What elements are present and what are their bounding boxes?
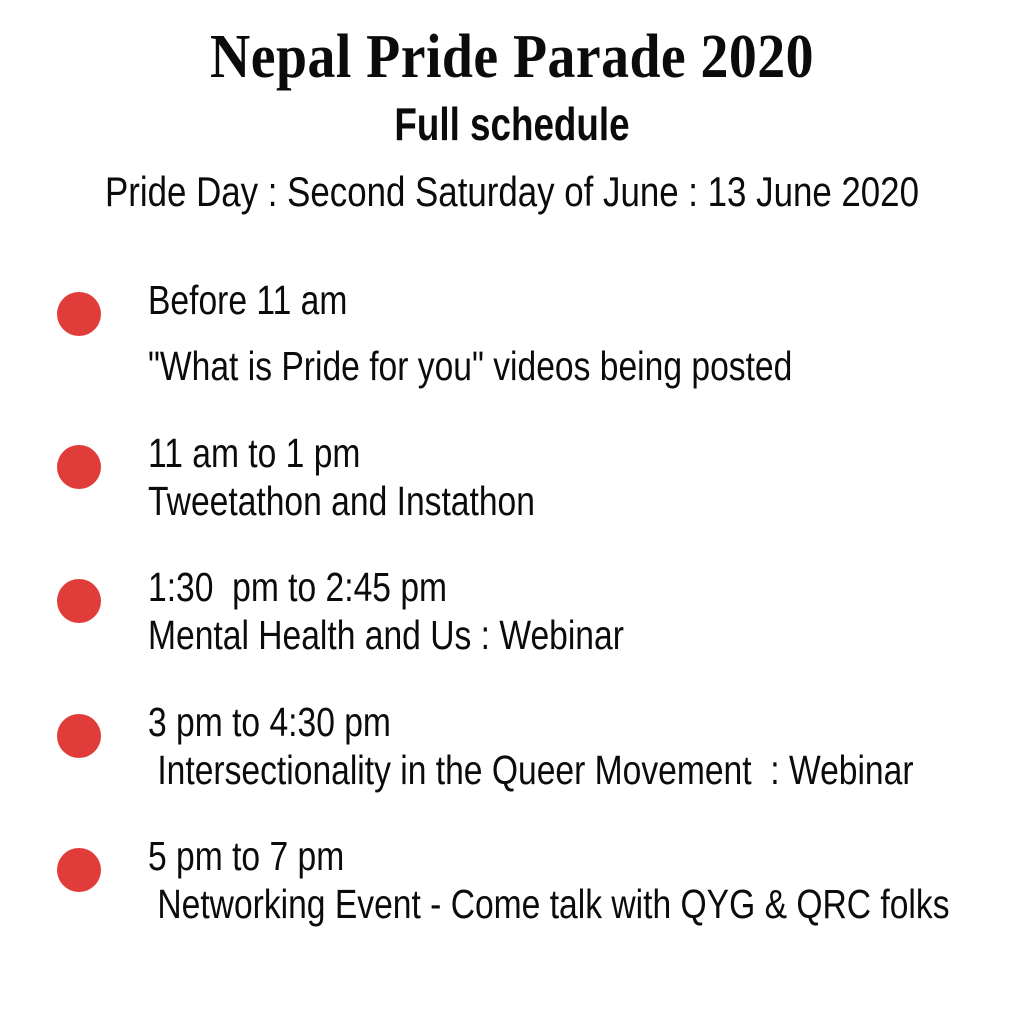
schedule-list: Before 11 am "What is Pride for you" vid… (0, 278, 1024, 959)
schedule-item-description: Intersectionality in the Queer Movement … (148, 748, 866, 792)
schedule-item: 11 am to 1 pm Tweetathon and Instathon (0, 431, 1024, 524)
schedule-item-description: Tweetathon and Instathon (148, 479, 866, 523)
schedule-item: Before 11 am "What is Pride for you" vid… (0, 278, 1024, 389)
schedule-item-description: Mental Health and Us : Webinar (148, 613, 866, 657)
schedule-item-description: "What is Pride for you" videos being pos… (148, 344, 866, 388)
schedule-item-time: 5 pm to 7 pm (148, 834, 866, 878)
schedule-item: 1:30 pm to 2:45 pm Mental Health and Us … (0, 565, 1024, 658)
pride-day-dateline: Pride Day : Second Saturday of June : 13… (87, 170, 937, 214)
filled-circle-icon (57, 714, 101, 758)
filled-circle-icon (57, 848, 101, 892)
schedule-item-time: Before 11 am (148, 278, 866, 322)
schedule-item-time: 11 am to 1 pm (148, 431, 866, 475)
schedule-item-time: 1:30 pm to 2:45 pm (148, 565, 866, 609)
filled-circle-icon (57, 292, 101, 336)
poster-header: Nepal Pride Parade 2020 Full schedule Pr… (0, 0, 1024, 214)
schedule-item-description: Networking Event - Come talk with QYG & … (148, 882, 866, 926)
filled-circle-icon (57, 445, 101, 489)
schedule-item: 3 pm to 4:30 pm Intersectionality in the… (0, 700, 1024, 793)
schedule-item: 5 pm to 7 pm Networking Event - Come tal… (0, 834, 1024, 927)
page-title: Nepal Pride Parade 2020 (51, 26, 973, 88)
page-subtitle: Full schedule (102, 100, 921, 148)
filled-circle-icon (57, 579, 101, 623)
poster-canvas: Nepal Pride Parade 2020 Full schedule Pr… (0, 0, 1024, 1024)
schedule-item-time: 3 pm to 4:30 pm (148, 700, 866, 744)
